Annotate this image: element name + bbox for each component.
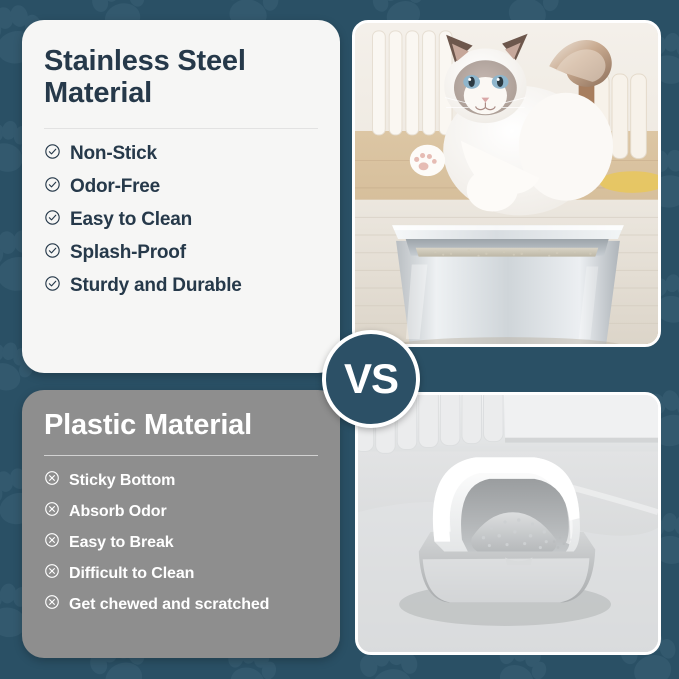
- plastic-panel-divider: [44, 455, 318, 456]
- list-item: Non-Stick: [44, 143, 318, 165]
- drawback-label: Easy to Break: [69, 534, 174, 552]
- x-circle-icon: [44, 563, 60, 584]
- list-item: Sticky Bottom: [44, 470, 318, 491]
- plastic-product-photo: [355, 392, 661, 655]
- drawback-label: Difficult to Clean: [69, 565, 194, 583]
- stainless-steel-panel: Stainless Steel Material Non-Stick Odor-…: [22, 20, 340, 373]
- x-circle-icon: [44, 594, 60, 615]
- vs-label: VS: [344, 358, 398, 400]
- plastic-drawback-list: Sticky Bottom Absorb Odor Easy to Break: [22, 470, 340, 615]
- check-circle-icon: [44, 143, 61, 165]
- list-item: Easy to Clean: [44, 209, 318, 231]
- x-circle-icon: [44, 470, 60, 491]
- drawback-label: Absorb Odor: [69, 503, 167, 521]
- feature-label: Non-Stick: [70, 143, 157, 165]
- feature-label: Splash-Proof: [70, 242, 186, 264]
- plastic-material-panel: Plastic Material Sticky Bottom Absorb Od…: [22, 390, 340, 658]
- check-circle-icon: [44, 176, 61, 198]
- list-item: Absorb Odor: [44, 501, 318, 522]
- check-circle-icon: [44, 209, 61, 231]
- check-circle-icon: [44, 242, 61, 264]
- feature-label: Odor-Free: [70, 176, 160, 198]
- list-item: Splash-Proof: [44, 242, 318, 264]
- stainless-steel-feature-list: Non-Stick Odor-Free Easy to Clean: [22, 143, 340, 297]
- stainless-steel-product-photo: [352, 20, 661, 347]
- stainless-steel-title: Stainless Steel Material: [22, 20, 340, 110]
- plastic-material-title: Plastic Material: [22, 390, 340, 441]
- feature-label: Sturdy and Durable: [70, 275, 242, 297]
- list-item: Easy to Break: [44, 532, 318, 553]
- feature-label: Easy to Clean: [70, 209, 192, 231]
- steel-panel-divider: [44, 128, 318, 129]
- list-item: Get chewed and scratched: [44, 594, 318, 615]
- drawback-label: Get chewed and scratched: [69, 596, 269, 614]
- x-circle-icon: [44, 532, 60, 553]
- drawback-label: Sticky Bottom: [69, 472, 175, 490]
- list-item: Difficult to Clean: [44, 563, 318, 584]
- list-item: Sturdy and Durable: [44, 275, 318, 297]
- x-circle-icon: [44, 501, 60, 522]
- check-circle-icon: [44, 275, 61, 297]
- vs-badge: VS: [322, 330, 420, 428]
- list-item: Odor-Free: [44, 176, 318, 198]
